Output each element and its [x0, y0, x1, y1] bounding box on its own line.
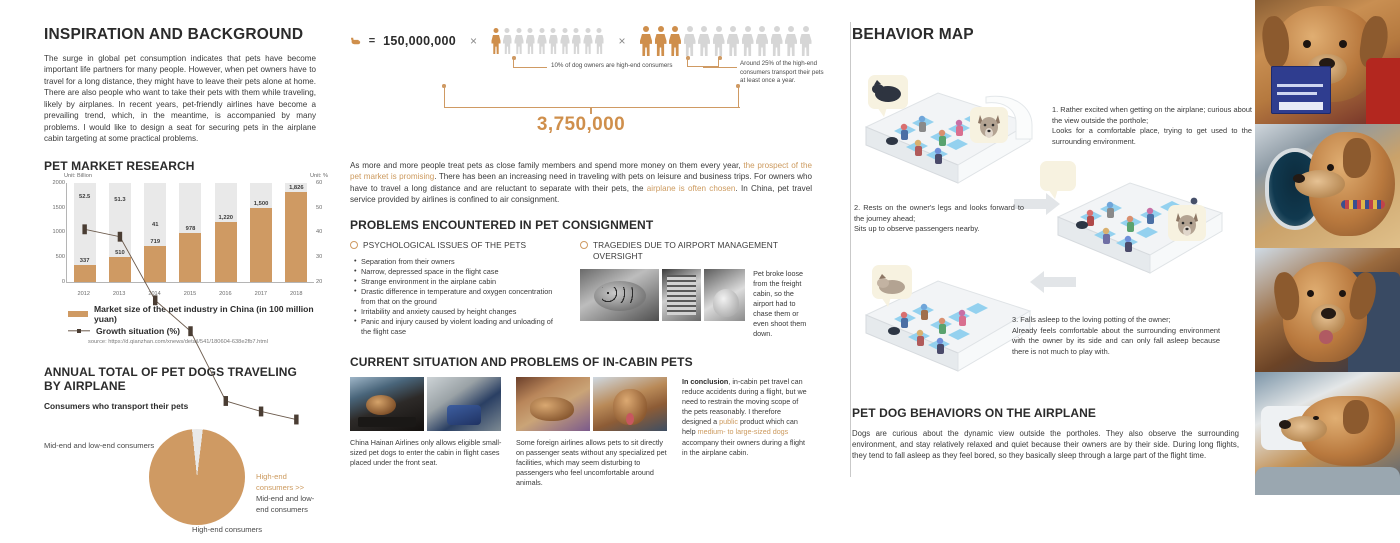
pie-comparison-top: High-end consumers >>: [256, 472, 304, 492]
person-head: [774, 26, 780, 32]
y-tick-left: 2000: [53, 180, 65, 186]
problems-two-columns: PSYCHOLOGICAL ISSUES OF THE PETS Separat…: [350, 240, 812, 339]
problem-col1-title: PSYCHOLOGICAL ISSUES OF THE PETS: [363, 240, 526, 251]
person-icon: [571, 28, 581, 54]
y-tick-right: 60: [316, 180, 322, 186]
person-head: [643, 26, 649, 32]
pictogram-group-owners: [491, 28, 605, 54]
person-body: [785, 34, 797, 57]
person-head: [585, 28, 590, 33]
person-head: [716, 26, 722, 32]
dog-in-soft-crate-photo: [350, 377, 424, 431]
kennel-stack-photo: [662, 269, 701, 321]
middle-column: = 150,000,000 × × 10% of dog owners are …: [330, 0, 820, 495]
person-body: [727, 34, 739, 57]
person-icon: [537, 28, 547, 54]
dog-on-leather-seat-photo: [516, 377, 590, 431]
intro-paragraph: The surge in global pet consumption indi…: [44, 53, 316, 145]
person-icon: [525, 28, 535, 54]
person-icon: [785, 26, 798, 56]
person-head: [597, 28, 602, 33]
problem-bullet-item: Panic and injury caused by violent loadi…: [354, 317, 564, 337]
person-body: [800, 34, 812, 57]
total-bracket-right-stem: [738, 86, 740, 108]
person-head: [551, 28, 556, 33]
y-tick-right: 20: [316, 279, 322, 285]
line-marker: [294, 414, 298, 424]
person-body: [756, 34, 768, 57]
equals-sign: =: [369, 35, 375, 47]
person-body: [595, 35, 604, 55]
dog-silhouette-icon: [868, 75, 908, 109]
person-body: [684, 34, 696, 57]
dog-head-icon: [350, 28, 361, 54]
person-icon-highlighted: [640, 26, 653, 56]
white-dog-photo: [704, 269, 745, 321]
problem-bullet-item: Strange environment in the airplane cabi…: [354, 277, 564, 287]
multiply-icon-2: ×: [618, 34, 625, 48]
person-icon: [698, 26, 711, 56]
caption-hainan: China Hainan Airlines only allows eligib…: [350, 438, 502, 468]
dog-looking-out-porthole-photo: [1255, 124, 1400, 248]
current-situation-heading: CURRENT SITUATION AND PROBLEMS OF IN-CAB…: [350, 355, 812, 369]
market-research-heading: PET MARKET RESEARCH: [44, 159, 316, 173]
conclusion-highlight-dogs: medium- to large-sized dogs: [698, 427, 789, 436]
person-icon: [727, 26, 740, 56]
dog-beside-seat-photo: [1255, 248, 1400, 372]
thought-bubble-dog-5: [872, 265, 912, 299]
person-icon: [548, 28, 558, 54]
thought-bubble-dog-1: [868, 75, 908, 109]
person-icon-highlighted: [654, 26, 667, 56]
person-head: [493, 28, 498, 33]
y-tick-right: 30: [316, 254, 322, 260]
person-icon: [583, 28, 593, 54]
line-marker: [82, 224, 86, 234]
person-body: [549, 35, 558, 55]
ring-bullet-icon: [350, 241, 358, 249]
dog-face-icon: [1168, 205, 1206, 241]
para-highlight-2: airplane is often chosen: [647, 184, 736, 193]
person-head: [701, 26, 707, 32]
person-head: [658, 26, 664, 32]
person-head: [528, 28, 533, 33]
growth-line: [85, 229, 297, 419]
person-body: [572, 35, 581, 55]
person-body: [771, 34, 783, 57]
conclusion-lead: In conclusion: [682, 377, 728, 386]
group2-note: Around 25% of the high-end consumers tra…: [740, 60, 830, 86]
problem-bullet-item: Separation from their owners: [354, 257, 564, 267]
group1-note: 10% of dog owners are high-end consumers: [551, 62, 701, 71]
person-head: [788, 26, 794, 32]
person-head: [672, 26, 678, 32]
photo-strip: [1255, 0, 1400, 495]
person-body: [503, 35, 512, 55]
person-icon: [799, 26, 812, 56]
person-body: [742, 34, 754, 57]
person-body: [514, 35, 523, 55]
person-head: [516, 28, 521, 33]
person-icon: [712, 26, 725, 56]
y-tick-left: 0: [62, 279, 65, 285]
problem-col2-title: TRAGEDIES DUE TO AIRPORT MANAGEMENT OVER…: [593, 240, 812, 262]
line-marker: [118, 232, 122, 242]
person-icon: [770, 26, 783, 56]
case-hainan: China Hainan Airlines only allows eligib…: [350, 377, 502, 488]
infographic-poster: INSPIRATION AND BACKGROUND The surge in …: [0, 0, 1400, 495]
person-body: [560, 35, 569, 55]
dog-sleeping-on-pillow-photo: [1255, 372, 1400, 495]
problems-heading: PROBLEMS ENCOUNTERED IN PET CONSIGNMENT: [350, 218, 812, 232]
dog-tongue-out-in-cabin-photo: [593, 377, 667, 431]
problem-bullet-item: Drastic difference in temperature and ox…: [354, 287, 564, 307]
behavior-step-2: 2. Rests on the owner's legs and looks f…: [854, 203, 1024, 235]
thought-bubble-dog-2: [970, 107, 1008, 143]
crate-under-seat-photo: [427, 377, 501, 431]
problem-bullet-item: Narrow, depressed space in the flight ca…: [354, 267, 564, 277]
person-body: [537, 35, 546, 55]
multiply-icon-1: ×: [470, 34, 477, 48]
thought-bubble-dog-4: [1168, 205, 1206, 241]
case-foreign: Some foreign airlines allows pets to sit…: [516, 377, 668, 488]
y-tick-left: 1500: [53, 205, 65, 211]
sleeping-dog-icon: [872, 265, 912, 299]
person-body: [491, 35, 500, 55]
dog-face-icon: [970, 107, 1008, 143]
chart-unit-right: Unit: %: [310, 173, 328, 179]
behavior-step-1: 1. Rather excited when getting on the ai…: [1052, 105, 1252, 148]
bracket-arm-1: [513, 67, 547, 68]
total-bracket-left-stem: [444, 86, 446, 108]
caption-foreign: Some foreign airlines allows pets to sit…: [516, 438, 668, 488]
dog-holding-passport-photo: [1255, 0, 1400, 124]
bracket-stem-1: [513, 58, 514, 67]
problems-col-psychological: PSYCHOLOGICAL ISSUES OF THE PETS Separat…: [350, 240, 564, 339]
pictogram-group-highend: [640, 26, 813, 56]
line-marker: [153, 295, 157, 305]
left-column: INSPIRATION AND BACKGROUND The surge in …: [0, 0, 330, 495]
problem-bullet-list: Separation from their ownersNarrow, depr…: [354, 257, 564, 338]
line-marker: [224, 396, 228, 406]
y-tick-right: 40: [316, 229, 322, 235]
person-icon: [514, 28, 524, 54]
page-title: INSPIRATION AND BACKGROUND: [44, 26, 316, 44]
person-icon: [594, 28, 604, 54]
problems-col-tragedies: TRAGEDIES DUE TO AIRPORT MANAGEMENT OVER…: [580, 240, 812, 339]
conclusion-text: In conclusion, in-cabin pet travel can r…: [682, 377, 808, 458]
conclusion-block: In conclusion, in-cabin pet travel can r…: [682, 377, 808, 488]
y-tick-left: 500: [56, 254, 65, 260]
conclusion-highlight-public: public: [719, 417, 738, 426]
bracket-2: [687, 58, 719, 67]
chart-plot-area: 3375107199781,2201,5001,826 52.551.34136…: [66, 183, 314, 283]
pie-label-high: High-end consumers: [192, 525, 262, 535]
person-head: [574, 28, 579, 33]
line-marker: [259, 406, 263, 416]
right-column: BEHAVIOR MAP: [820, 0, 1255, 495]
pictogram-block: = 150,000,000 × × 10% of dog owners are …: [350, 26, 812, 138]
person-body: [655, 34, 667, 57]
person-head: [745, 26, 751, 32]
person-head: [730, 26, 736, 32]
chart-unit-left: Unit: Billion: [64, 173, 92, 179]
behavior-step-3: 3. Falls asleep to the loving potting of…: [1012, 315, 1220, 358]
pie-comparison: High-end consumers >> Mid-end and low-en…: [256, 471, 316, 515]
y-tick-right: 50: [316, 205, 322, 211]
tragedy-caption: Pet broke loose from the freight cabin, …: [753, 269, 812, 340]
market-size-chart: Unit: Billion Unit: % 3375107199781,2201…: [44, 181, 334, 299]
behaviors-paragraph: Dogs are curious about the dynamic view …: [852, 428, 1239, 461]
pie-label-mid-low: Mid-end and low-end consumers: [44, 441, 154, 451]
grand-total-value: 3,750,000: [350, 114, 812, 136]
person-body: [583, 35, 592, 55]
person-icon: [683, 26, 696, 56]
person-icon: [502, 28, 512, 54]
market-prospect-paragraph: As more and more people treat pets as cl…: [350, 160, 812, 206]
line-marker: [188, 326, 192, 336]
bracket-arm-2: [703, 67, 737, 68]
behavior-map-heading: BEHAVIOR MAP: [852, 26, 1239, 44]
pie-graphic: [149, 429, 245, 525]
y-tick-left: 1000: [53, 229, 65, 235]
behavior-map: 1. Rather excited when getting on the ai…: [852, 53, 1239, 398]
xray-of-dog-photo: [580, 269, 659, 321]
problem-bullet-item: Irritability and anxiety caused by heigh…: [354, 307, 564, 317]
person-head: [803, 26, 809, 32]
conclusion-seg-3: accompany their owners during a flight i…: [682, 438, 805, 457]
person-icon: [756, 26, 769, 56]
person-body: [669, 34, 681, 57]
pie-chart: Mid-end and low-end consumers High-end c…: [44, 425, 316, 543]
current-situation-row: China Hainan Airlines only allows eligib…: [350, 377, 812, 488]
person-head: [539, 28, 544, 33]
para-seg-1: As more and more people treat pets as cl…: [350, 161, 743, 170]
person-head: [759, 26, 765, 32]
thought-bubble-dog-3: [1040, 161, 1076, 191]
person-head: [687, 26, 693, 32]
person-icon: [741, 26, 754, 56]
person-icon-highlighted: [491, 28, 501, 54]
pie-comparison-bottom: Mid-end and low-end consumers: [256, 494, 314, 514]
person-icon-highlighted: [669, 26, 682, 56]
person-head: [505, 28, 510, 33]
person-body: [698, 34, 710, 57]
dog-population-value: 150,000,000: [383, 34, 456, 48]
ring-bullet-icon: [580, 241, 588, 249]
person-body: [713, 34, 725, 57]
person-body: [640, 34, 652, 57]
person-body: [526, 35, 535, 55]
person-head: [562, 28, 567, 33]
person-icon: [560, 28, 570, 54]
behaviors-heading: PET DOG BEHAVIORS ON THE AIRPLANE: [852, 406, 1239, 420]
